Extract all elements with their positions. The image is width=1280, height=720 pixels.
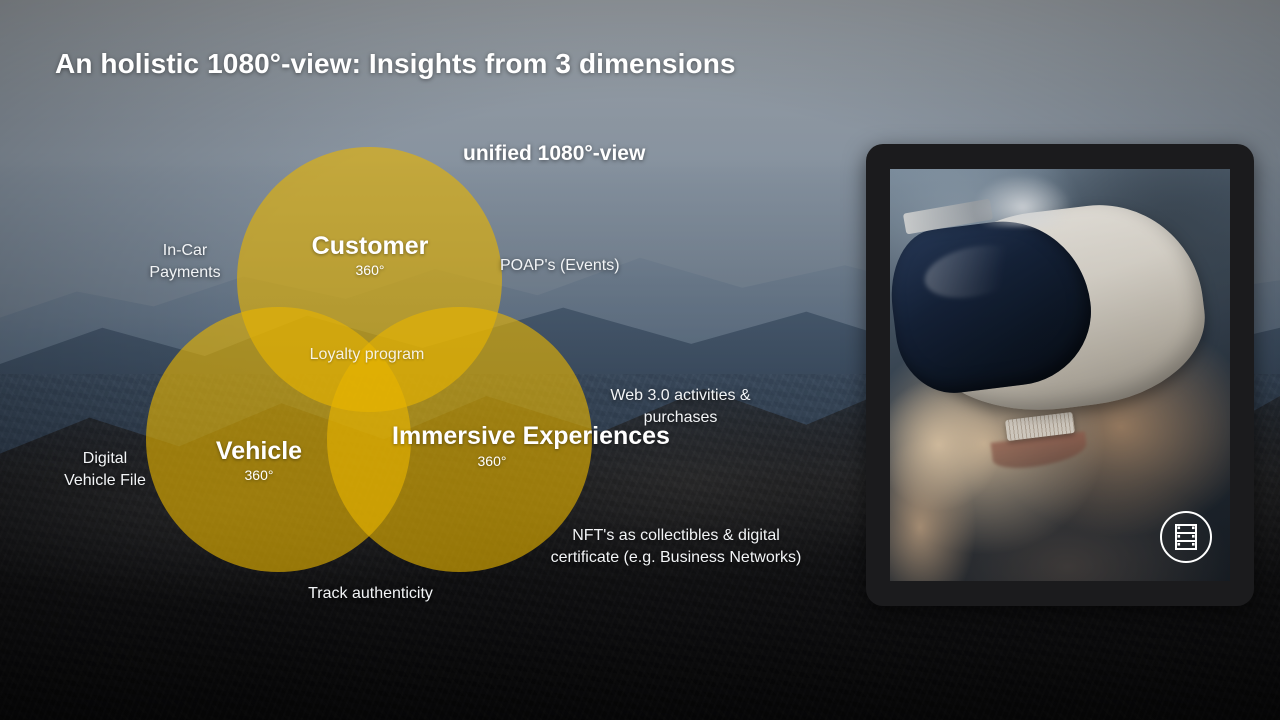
note-nft-collectibles: NFT's as collectibles & digital certific… — [516, 525, 836, 569]
venn-label-immersive-degree: 360° — [392, 454, 592, 470]
unified-view-label: unified 1080°-view — [463, 142, 645, 166]
venn-center-label: Loyalty program — [307, 344, 427, 367]
venn-label-vehicle-degree: 360° — [159, 468, 359, 484]
note-digital-vehicle-file: Digital Vehicle File — [40, 448, 170, 492]
media-screen[interactable] — [890, 169, 1230, 581]
note-in-car-payments: In-Car Payments — [120, 240, 250, 284]
slide-canvas: An holistic 1080°-view: Insights from 3 … — [0, 0, 1280, 720]
media-panel-frame — [866, 144, 1254, 606]
venn-label-immersive-name: Immersive Experiences — [392, 422, 592, 451]
note-track-authenticity: Track authenticity — [288, 583, 453, 605]
film-strip-icon[interactable] — [1160, 511, 1212, 563]
venn-label-immersive: Immersive Experiences 360° — [392, 422, 592, 470]
venn-label-customer-name: Customer — [270, 232, 470, 260]
venn-label-vehicle: Vehicle 360° — [159, 437, 359, 484]
venn-diagram: Customer 360° Vehicle 360° Immersive Exp… — [0, 0, 860, 720]
venn-label-vehicle-name: Vehicle — [159, 437, 359, 465]
venn-label-customer: Customer 360° — [270, 232, 470, 279]
note-web3-activities: Web 3.0 activities & purchases — [588, 385, 773, 429]
note-poap-events: POAP's (Events) — [500, 255, 670, 277]
venn-label-customer-degree: 360° — [270, 263, 470, 279]
